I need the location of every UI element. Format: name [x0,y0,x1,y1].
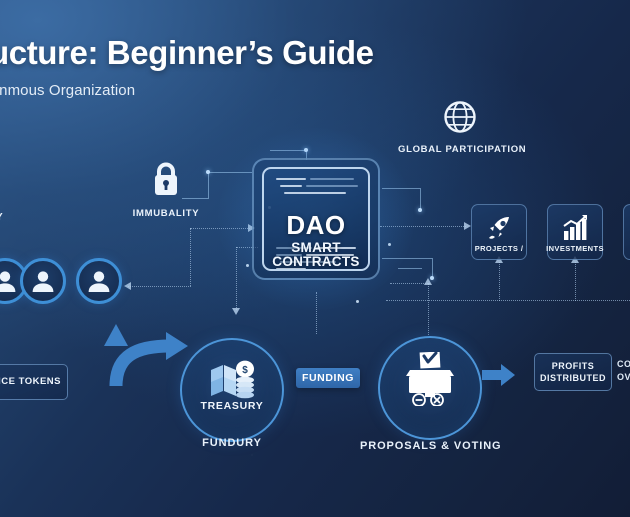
node-treasury[interactable]: $ TREASURY [180,338,284,442]
svg-text:$: $ [242,365,248,376]
node-immutability[interactable]: IMMUBALITY [118,160,214,221]
node-immutability-label: IMMUBALITY [133,208,200,219]
profits-distributed-box[interactable]: PROFITS DISTRIBUTED [534,353,612,391]
card-investments-label: INVESTMENTS [542,244,608,253]
cutoff-text-line-2: OV [617,371,630,383]
circuit-node-3 [418,208,422,212]
card-third-label: I [618,244,630,253]
governance-tokens-label: NCE TOKENS [0,376,61,389]
ballot-box-icon [400,352,460,411]
header: structure: Beginner’s Guide d Autonmous … [0,34,630,99]
card-third-partial[interactable]: I [623,204,630,260]
padlock-icon [118,160,214,203]
rocket-icon [485,214,513,247]
connector-card-projects-riser [499,262,500,301]
node-global-participation[interactable]: GLOBAL PARTICIPATION [398,100,522,157]
page-subtitle: d Autonmous Organization [0,82,630,99]
page-title: structure: Beginner’s Guide [0,34,630,72]
connector-voting-bus [390,283,430,284]
treasury-below-label: FUNDURY [180,437,284,449]
chip-inner-panel: DAO SMART CONTRACTS [262,167,370,271]
circuit-trace-9 [432,258,433,278]
dao-smart-contracts-node[interactable]: DAO SMART CONTRACTS [252,158,380,280]
voting-below-label: PROPOSALS & VOTING [360,440,500,452]
connector-chip-to-voting [428,283,429,335]
treasury-coins-icon: $ [207,358,257,405]
member-avatar-3[interactable] [76,258,122,304]
user-avatar-icon [30,268,56,294]
connector-immutability-to-members [128,286,191,287]
treasury-inner-label: TREASURY [182,400,282,412]
connector-immutability-vertical [190,228,191,286]
card-investments[interactable]: INVESTMENTS [547,204,603,260]
user-avatar-icon [86,268,112,294]
user-avatar-icon [0,268,18,294]
infographic-canvas: structure: Beginner’s Guide d Autonmous … [0,0,630,517]
profits-line-1: PROFITS [552,360,595,372]
connector-card-investments-riser [575,262,576,301]
arrowhead-chip-to-treasury [232,308,240,315]
circuit-trace-10 [398,268,422,269]
circuit-trace-7 [420,188,421,210]
profits-line-2: DISTRIBUTED [540,372,606,384]
arrowhead-to-members [124,282,131,290]
governance-tokens-box[interactable]: NCE TOKENS [0,364,68,400]
connector-right-bus [386,300,630,301]
card-projects[interactable]: PROJECTS / [471,204,527,260]
chip-text: DAO SMART CONTRACTS [264,212,368,269]
node-global-participation-label: GLOBAL PARTICIPATION [398,144,526,155]
chip-title-dao: DAO [264,212,368,238]
funding-badge-label: FUNDING [302,372,354,384]
cutoff-text-line-1: CO [617,358,630,370]
circuit-node-4 [430,276,434,280]
arrowhead-chip-right [464,222,471,230]
bar-chart-growth-icon [561,214,589,247]
chip-title-contracts: CONTRACTS [264,255,368,269]
card-projects-label: PROJECTS / [466,244,532,253]
funding-badge[interactable]: FUNDING [296,368,360,388]
globe-icon [398,100,522,139]
member-avatar-2[interactable] [20,258,66,304]
partial-left-label: Y [0,212,3,223]
node-proposals-voting[interactable] [378,336,482,440]
voting-to-profits-arrow [482,362,516,393]
